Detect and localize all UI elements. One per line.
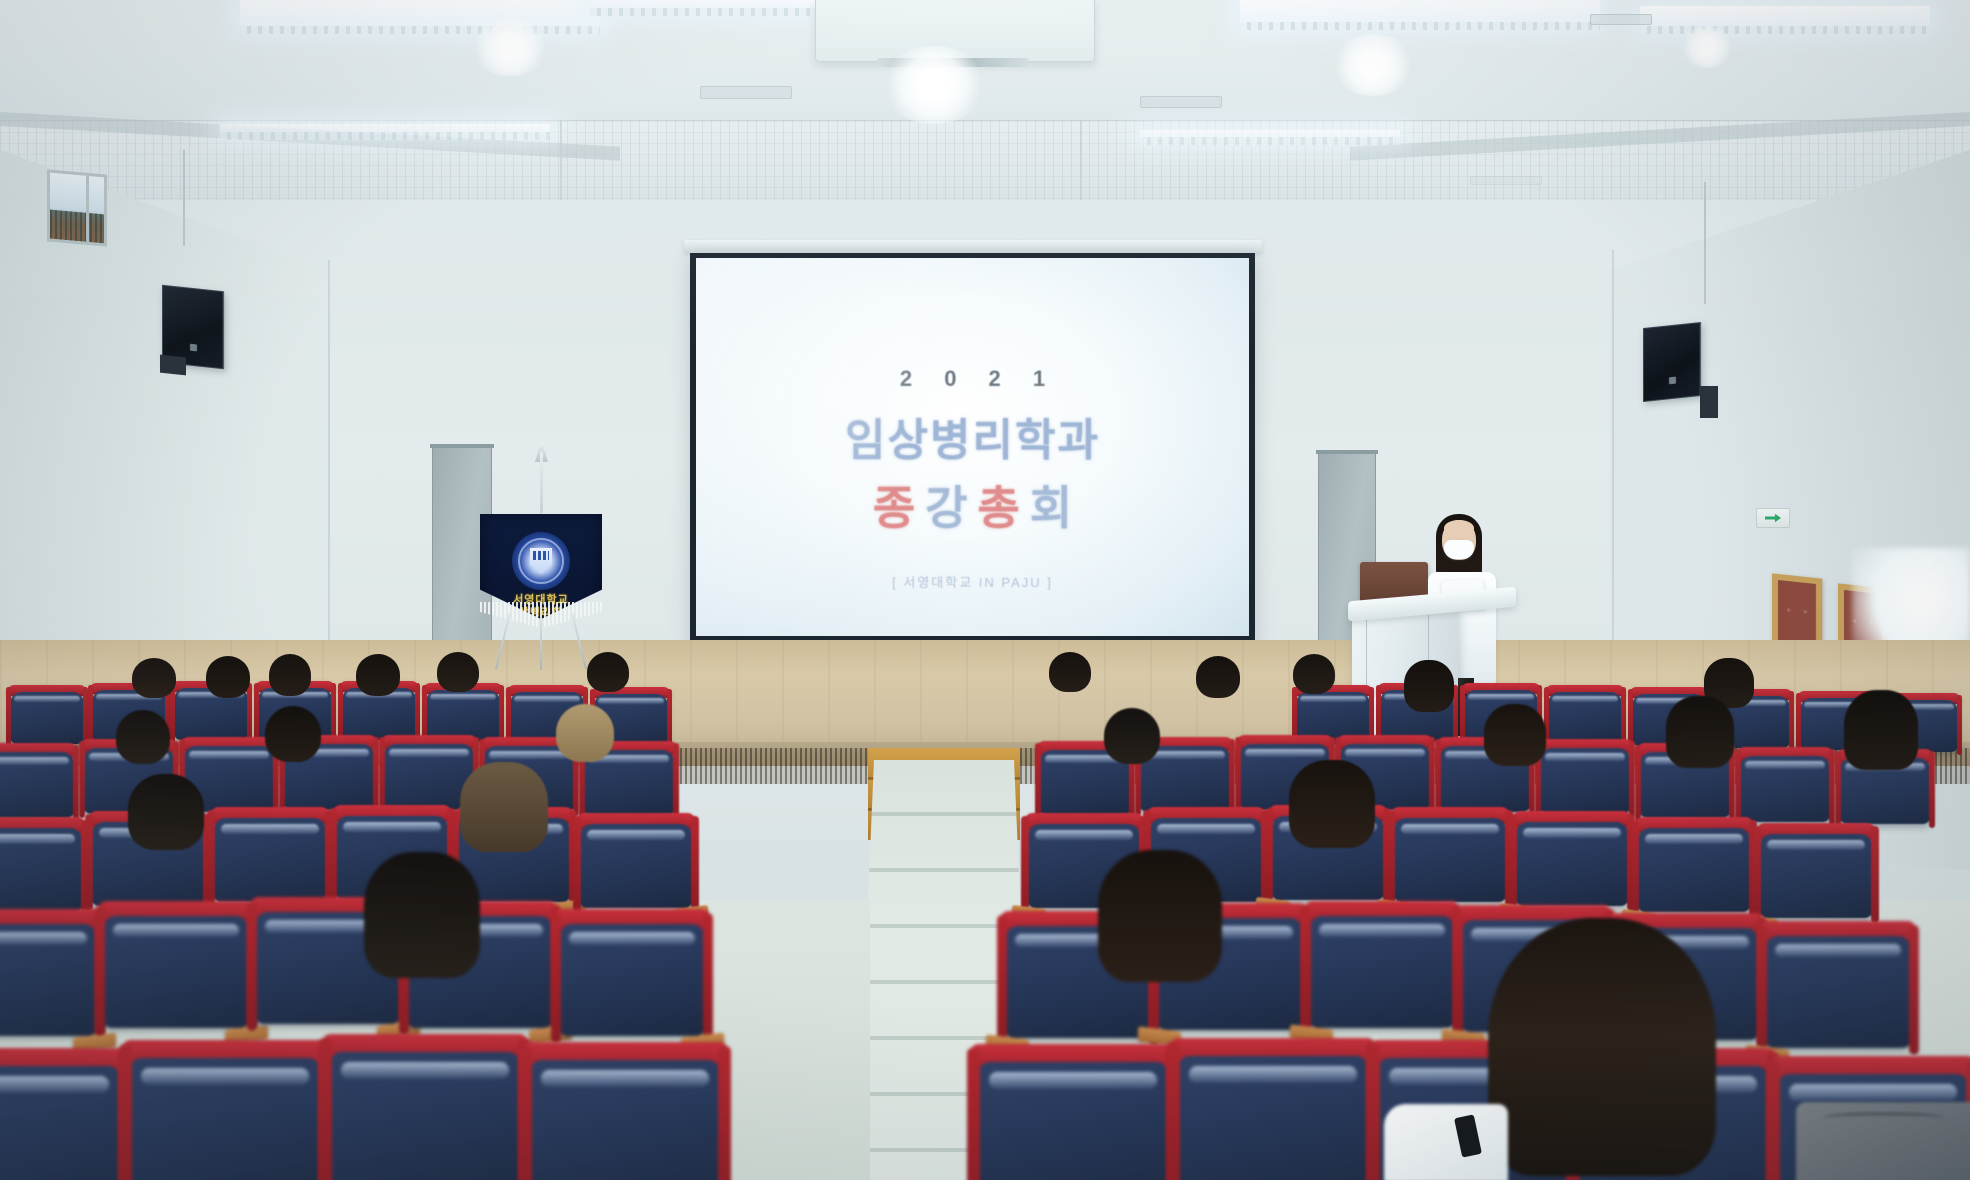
seat-back [0, 828, 82, 912]
audience-member-22 [352, 852, 492, 980]
stage-door-left-header [430, 444, 494, 448]
seat-side-right [1929, 751, 1935, 828]
seat-side-left [1509, 814, 1517, 911]
audience-member-20 [452, 762, 556, 852]
seat-back [1638, 828, 1750, 912]
person-head [1666, 696, 1734, 768]
seat-back [426, 690, 500, 742]
audience-member-3 [262, 654, 318, 698]
person-head [587, 652, 629, 692]
seat-back [1394, 818, 1506, 902]
seat-left-r5-c2[interactable] [130, 1058, 320, 1180]
seat-right-r3-c7[interactable] [1760, 834, 1872, 918]
fluorescent-light-5 [220, 124, 550, 134]
seat-side-left [1265, 808, 1273, 905]
audience-member-1 [126, 658, 182, 702]
seat-side-left [1635, 745, 1641, 822]
person-head [1196, 656, 1240, 698]
seat-side-left [1757, 925, 1767, 1055]
seat-back [1766, 936, 1910, 1048]
seat-side-left [1460, 685, 1465, 745]
ceiling-vent-1 [700, 86, 792, 99]
seat-left-r1-c1[interactable] [10, 692, 84, 744]
seat-side-left [573, 816, 581, 913]
fluorescent-light-4 [1640, 6, 1930, 28]
audience-member-5 [430, 652, 486, 696]
seat-back [1760, 834, 1872, 918]
seat-left-r3-c6[interactable] [580, 824, 692, 908]
seat-left-r3-c3[interactable] [214, 818, 326, 902]
person-head [1289, 760, 1375, 848]
person-head [206, 656, 250, 698]
seat-side-right [1789, 691, 1794, 751]
fluorescent-light-2 [1240, 0, 1600, 24]
ceiling-vent-3 [1590, 14, 1652, 25]
person-head [1484, 704, 1546, 766]
seat-side-left [967, 1048, 980, 1180]
audience-member-18 [1838, 690, 1924, 770]
seat-left-r4-c5[interactable] [560, 924, 704, 1036]
seat-back [1740, 756, 1830, 822]
audience-member-2 [200, 656, 256, 700]
downlight-4 [1680, 26, 1734, 68]
seat-side-left [997, 915, 1007, 1045]
seat-side-right [499, 685, 504, 745]
person-head [132, 658, 176, 698]
speaker-bracket-right [1700, 386, 1718, 418]
seat-side-left [1021, 816, 1029, 913]
university-crest-icon [512, 532, 570, 590]
seat-side-left [1796, 693, 1801, 753]
slide-event-title: 종강총회 [696, 472, 1249, 538]
seat-back [580, 824, 692, 908]
seat-right-r2-c8[interactable] [1740, 756, 1830, 822]
seat-side-left [1631, 820, 1639, 917]
stage-door-right-header [1316, 450, 1378, 454]
seat-side-left [1235, 737, 1241, 814]
speaker-cable-left [183, 150, 185, 246]
speaker-right [1643, 322, 1701, 402]
ceiling-vent-2 [1140, 96, 1222, 108]
ceiling-vent-4 [1470, 176, 1542, 185]
seat-side-left [1453, 909, 1463, 1039]
seat-side-right [691, 816, 699, 913]
screen-surface: 2 0 2 1 임상병리학과 종강총회 [ 서영대학교 IN PAJU ] [696, 258, 1249, 636]
seat-side-left [88, 685, 93, 745]
audience-member-23 [1086, 850, 1234, 984]
seat-side-left [85, 814, 93, 911]
tripod-leg-left [495, 613, 511, 670]
downlight-2 [880, 46, 988, 124]
seat-side-right [718, 1046, 731, 1180]
outdoor-window [47, 169, 107, 246]
auditorium-photo: 2 0 2 1 임상병리학과 종강총회 [ 서영대학교 IN PAJU ] [0, 0, 1970, 1180]
seat-side-right [331, 683, 336, 743]
ceiling-seam-3 [1080, 120, 1082, 212]
seat-side-left [1387, 810, 1395, 907]
audience-member-foreground-sleeve [1382, 1102, 1510, 1180]
seat-back [530, 1060, 720, 1180]
seat-side-left [1753, 826, 1761, 923]
seat-side-right [703, 913, 713, 1043]
seat-side-left [1167, 1042, 1180, 1180]
seat-left-r1-c6[interactable] [426, 690, 500, 742]
exit-arrow-icon [1765, 513, 1781, 523]
seat-right-r2-c6[interactable] [1540, 748, 1630, 814]
seat-side-right [1909, 925, 1919, 1055]
person-white-sleeve [1384, 1104, 1508, 1180]
person-head [269, 654, 311, 696]
seat-right-r1-c4[interactable] [1548, 692, 1622, 744]
banner-pole [540, 452, 543, 518]
slide-title-char-2: 강 [925, 482, 977, 534]
seat-back [1516, 822, 1628, 906]
seat-back [1540, 748, 1630, 814]
seating-area [0, 700, 1970, 1180]
seat-right-r3-c5[interactable] [1516, 822, 1628, 906]
person-head [1844, 690, 1918, 770]
audience-member-9 [1286, 654, 1342, 698]
seat-back [214, 818, 326, 902]
seat-right-r3-c4[interactable] [1394, 818, 1506, 902]
audience-member-6 [580, 652, 636, 696]
seat-side-left [338, 683, 343, 743]
audience-member-7 [1042, 652, 1098, 696]
seat-back [560, 924, 704, 1036]
seat-side-left [519, 1046, 532, 1180]
seat-right-r5-c2[interactable] [1178, 1056, 1368, 1180]
seat-left-r5-c3[interactable] [330, 1052, 520, 1180]
seat-side-left [79, 741, 85, 818]
slide-department: 임상병리학과 [696, 404, 1249, 468]
seat-right-r5-c1[interactable] [978, 1062, 1168, 1180]
audience-member-17 [1660, 696, 1740, 770]
person-head [356, 654, 400, 696]
person-head [364, 852, 480, 978]
ceiling [0, 0, 1970, 225]
seat-side-left [119, 1044, 132, 1180]
downlight-1 [470, 18, 550, 76]
window-trees [50, 210, 104, 244]
seat-side-right [1621, 687, 1626, 747]
slide-title-char-4: 회 [1030, 482, 1082, 534]
seat-side-left [6, 687, 11, 747]
seat-side-right [1871, 826, 1879, 923]
person-head [437, 652, 479, 692]
slide-title-char-1: 종 [873, 482, 925, 534]
fluorescent-light-3 [590, 0, 820, 10]
slide-title-char-3: 총 [978, 482, 1030, 534]
tripod-leg-center [540, 612, 542, 670]
seat-left-r3-c1[interactable] [0, 828, 82, 912]
exit-sign [1756, 508, 1790, 528]
seat-back [1178, 1056, 1368, 1180]
seat-side-left [1367, 1044, 1380, 1180]
person-head [128, 774, 204, 850]
gray-bag [1796, 1102, 1970, 1180]
audience-member-16 [1478, 704, 1552, 768]
seat-side-left [95, 905, 105, 1035]
seat-back [1548, 692, 1622, 744]
fluorescent-light-6 [1140, 130, 1400, 139]
seat-left-r5-c1[interactable] [0, 1066, 120, 1180]
person-head [556, 704, 614, 762]
audience-member-10 [1400, 660, 1458, 712]
seat-back [1310, 916, 1454, 1028]
person-head [460, 762, 548, 852]
seat-back [0, 1066, 120, 1180]
speaker-bracket-left [160, 355, 186, 376]
seat-side-left [1435, 739, 1441, 816]
seat-side-right [667, 689, 672, 749]
seat-left-r4-c1[interactable] [0, 924, 96, 1036]
audience-member-21 [1280, 760, 1384, 850]
seat-side-right [1957, 695, 1962, 755]
department-pennant-banner: 서영대학교 임상병리학과 [480, 452, 602, 632]
seat-side-left [329, 808, 337, 905]
seat-right-r4-c6[interactable] [1766, 936, 1910, 1048]
seat-back [978, 1062, 1168, 1180]
person-head [1404, 660, 1454, 712]
audience-member-8 [1190, 656, 1246, 700]
seat-side-left [551, 913, 561, 1043]
window-mullion [86, 176, 89, 242]
seat-back [0, 752, 74, 818]
person-head [1104, 708, 1160, 764]
seat-side-left [379, 737, 385, 814]
audience-member-19 [118, 774, 214, 850]
slide-subtitle: [ 서영대학교 IN PAJU ] [696, 572, 1249, 591]
person-head [116, 710, 170, 764]
ceiling-seam-2 [560, 120, 562, 212]
audience-member-15 [1096, 708, 1168, 766]
seat-back [130, 1058, 320, 1180]
seat-side-left [1035, 743, 1041, 820]
seat-back [0, 924, 96, 1036]
fluorescent-light-1 [240, 0, 600, 28]
seat-side-left [1301, 905, 1311, 1035]
seat-left-r2-c1[interactable] [0, 752, 74, 818]
audience-member-4 [350, 654, 406, 698]
slide-year: 2 0 2 1 [696, 366, 1249, 392]
downlight-3 [1330, 34, 1416, 96]
screen-roller-housing [684, 240, 1262, 253]
seat-side-right [673, 743, 679, 820]
speaker-port-right [1669, 377, 1676, 385]
seat-side-left [1767, 1060, 1780, 1180]
seat-left-r5-c4[interactable] [530, 1060, 720, 1180]
presenter-face-mask [1444, 540, 1474, 559]
seat-side-left [319, 1038, 332, 1180]
audience-member-12 [108, 710, 178, 766]
seat-back [104, 916, 248, 1028]
projection-screen[interactable]: 2 0 2 1 임상병리학과 종강총회 [ 서영대학교 IN PAJU ] [690, 253, 1255, 643]
audience-member-foreground [1472, 918, 1732, 1180]
audience-member-14 [548, 704, 622, 766]
person-head [1293, 654, 1335, 694]
person-head [265, 706, 321, 762]
seat-left-r4-c2[interactable] [104, 916, 248, 1028]
person-head [1098, 850, 1222, 982]
seat-right-r3-c6[interactable] [1638, 828, 1750, 912]
seat-right-r4-c3[interactable] [1310, 916, 1454, 1028]
person-head [1488, 918, 1716, 1176]
speaker-port-left [190, 344, 197, 352]
audience-member-13 [258, 706, 328, 764]
speaker-cable-right [1704, 182, 1706, 304]
person-head [1049, 652, 1091, 692]
slide-content: 2 0 2 1 임상병리학과 종강총회 [ 서영대학교 IN PAJU ] [696, 366, 1249, 591]
seat-back [330, 1052, 520, 1180]
seat-side-left [247, 901, 257, 1031]
seat-back [10, 692, 84, 744]
seat-side-right [415, 683, 420, 743]
